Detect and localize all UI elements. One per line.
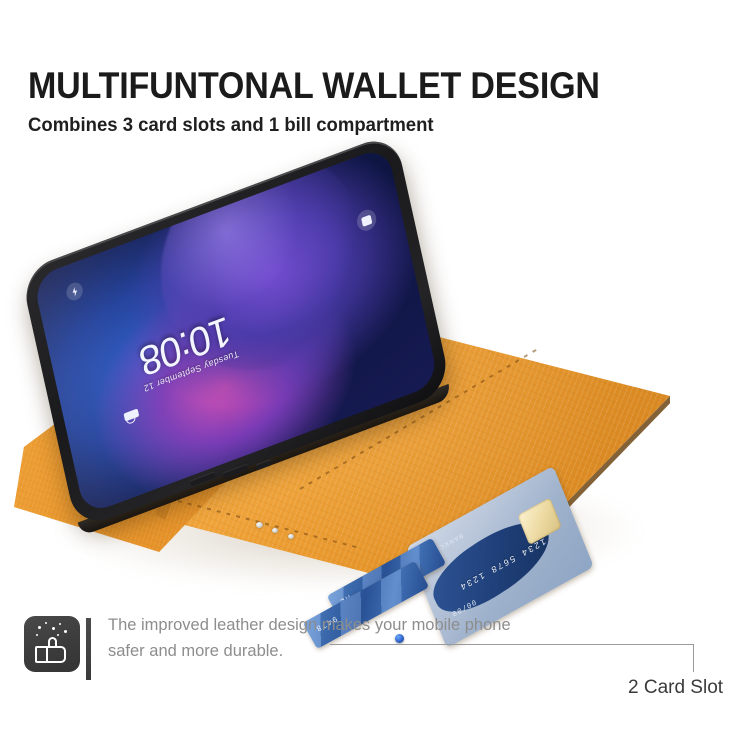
poster-canvas: MULTIFUNTONAL WALLET DESIGN Combines 3 c… [0,0,750,750]
rivet [272,528,278,533]
thumb-glyph [35,638,66,663]
feature-block: The improved leather design makes your m… [24,612,724,692]
rivet [256,522,263,528]
page-title: MULTIFUNTONAL WALLET DESIGN [28,66,672,106]
wallet-case: BANKCARD 1234 5678 1234 00/00 ME 9478 [0,170,750,600]
header: MULTIFUNTONAL WALLET DESIGN Combines 3 c… [28,66,728,137]
rivet [288,534,294,539]
product-scene: BANKCARD 1234 5678 1234 00/00 ME 9478 [0,170,750,600]
feature-text: The improved leather design makes your m… [108,612,528,664]
thumbs-up-icon [24,616,80,672]
page-subtitle: Combines 3 card slots and 1 bill compart… [28,113,693,137]
divider [86,618,91,680]
